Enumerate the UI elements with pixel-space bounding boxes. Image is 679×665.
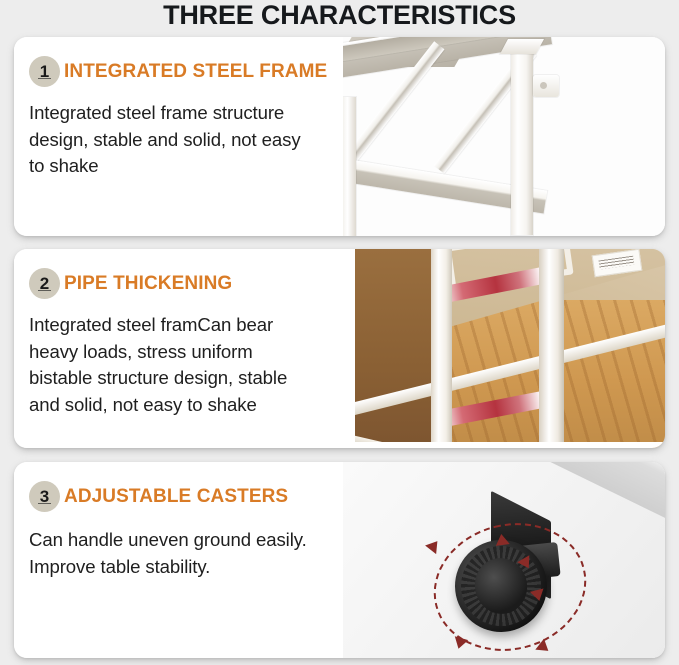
page-title: THREE CHARACTERISTICS: [0, 0, 679, 31]
rotation-arrow-icon-4: [494, 533, 509, 546]
feature-card-2-text: 2 PIPE THICKENING Integrated steel framC…: [14, 249, 343, 448]
product-feature-page: THREE CHARACTERISTICS 1 INTEGRATED STEEL…: [0, 0, 679, 665]
feature-card-3-image: [343, 462, 665, 658]
table-leg-front: [431, 249, 452, 448]
image-white-margin-left: [343, 249, 355, 448]
feature-card-3-title: ADJUSTABLE CASTERS: [64, 486, 288, 508]
pipe-thickening-illustration: [343, 249, 665, 448]
step-number-badge-1: 1: [29, 56, 60, 87]
feature-card-2-heading-row: 2 PIPE THICKENING: [29, 268, 337, 299]
feature-card-1-title: INTEGRATED STEEL FRAME: [64, 61, 327, 83]
feature-card-2-image: [343, 249, 665, 448]
step-number-badge-2: 2: [29, 268, 60, 299]
feature-card-1-image: [343, 37, 665, 236]
frame-left-leg: [343, 97, 356, 236]
feature-card-2: 2 PIPE THICKENING Integrated steel framC…: [14, 249, 665, 448]
feature-card-3-body: Can handle uneven ground easily. Improve…: [29, 527, 337, 580]
feature-card-2-title: PIPE THICKENING: [64, 273, 232, 295]
frame-vertical-post: [511, 45, 533, 235]
feature-card-3-text: 3 ADJUSTABLE CASTERS Can handle uneven g…: [14, 462, 343, 658]
feature-card-3: 3 ADJUSTABLE CASTERS Can handle uneven g…: [14, 462, 665, 658]
rotation-dashed-ellipse-icon: [420, 507, 600, 658]
feature-card-2-body: Integrated steel framCan bear heavy load…: [29, 312, 337, 418]
feature-card-3-heading-row: 3 ADJUSTABLE CASTERS: [29, 481, 337, 512]
rotation-arrow-icon-2: [452, 636, 468, 650]
wall-left: [343, 249, 439, 448]
feature-card-1: 1 INTEGRATED STEEL FRAME Integrated stee…: [14, 37, 665, 236]
feature-card-1-heading-row: 1 INTEGRATED STEEL FRAME: [29, 56, 337, 87]
image-white-margin-bottom: [343, 442, 665, 448]
table-leg-back: [539, 249, 564, 448]
frame-post-cap: [500, 39, 544, 54]
frame-bracket-hole: [533, 75, 559, 97]
rotation-arrow-icon-1: [425, 537, 443, 554]
steel-frame-illustration: [343, 37, 665, 236]
feature-card-1-text: 1 INTEGRATED STEEL FRAME Integrated stee…: [14, 37, 343, 236]
feature-card-1-body: Integrated steel frame structure design,…: [29, 100, 337, 180]
adjustable-caster-illustration: [343, 462, 665, 658]
step-number-badge-3: 3: [29, 481, 60, 512]
